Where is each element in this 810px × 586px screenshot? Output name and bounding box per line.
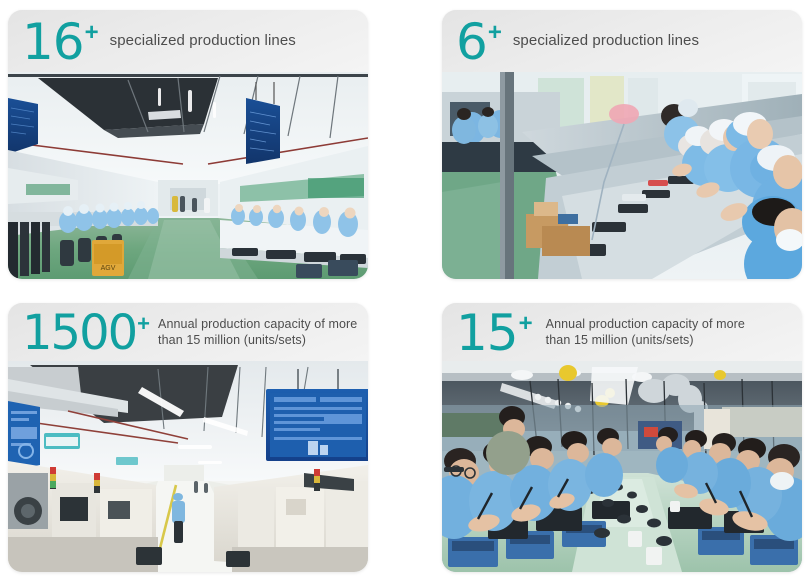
stat-card-15-annual-capacity[interactable]: 15 + Annual production capacity of more … (442, 303, 802, 572)
stat-number: 1500 (22, 311, 136, 355)
svg-text:AGV: AGV (101, 265, 116, 272)
stat-number: 16 (22, 19, 84, 65)
stat-label-line-1: Annual production capacity of more (546, 317, 745, 331)
stat-value: 6 + (456, 18, 501, 64)
stat-label: Annual production capacity of more than … (158, 316, 357, 349)
stat-number: 6 (456, 19, 487, 65)
stat-label-line-2: than 15 million (units/sets) (546, 333, 694, 347)
assembly-bench-workers-photo (442, 361, 802, 572)
card-header: 16 + specialized production lines (8, 10, 368, 72)
stat-card-6-production-lines[interactable]: 6 + specialized production lines (442, 10, 802, 279)
stat-card-1500-annual-capacity[interactable]: 1500 + Annual production capacity of mor… (8, 303, 368, 572)
stat-plus-icon: + (488, 21, 501, 45)
stat-value: 16 + (22, 18, 98, 64)
stat-label: specialized production lines (110, 31, 296, 50)
stat-value: 1500 + (22, 310, 149, 354)
stat-label: Annual production capacity of more than … (546, 316, 745, 349)
card-header: 15 + Annual production capacity of more … (442, 303, 802, 361)
smt-machine-line-photo (8, 361, 368, 572)
workers-along-conveyor-photo (442, 72, 802, 279)
stat-number: 15 (456, 310, 518, 356)
factory-aisle-assembly-line-photo: AGV (8, 72, 368, 279)
card-header: 6 + specialized production lines (442, 10, 802, 72)
stat-label: specialized production lines (513, 31, 699, 50)
stat-plus-icon: + (137, 312, 149, 336)
card-header: 1500 + Annual production capacity of mor… (8, 303, 368, 361)
stat-label-line-2: than 15 million (units/sets) (158, 333, 306, 347)
stat-value: 15 + (456, 309, 532, 355)
stat-card-grid: 16 + specialized production lines (0, 0, 810, 586)
stat-label-line-1: Annual production capacity of more (158, 317, 357, 331)
stat-card-16-production-lines[interactable]: 16 + specialized production lines (8, 10, 368, 279)
stat-plus-icon: + (519, 312, 532, 336)
stat-plus-icon: + (85, 21, 98, 45)
